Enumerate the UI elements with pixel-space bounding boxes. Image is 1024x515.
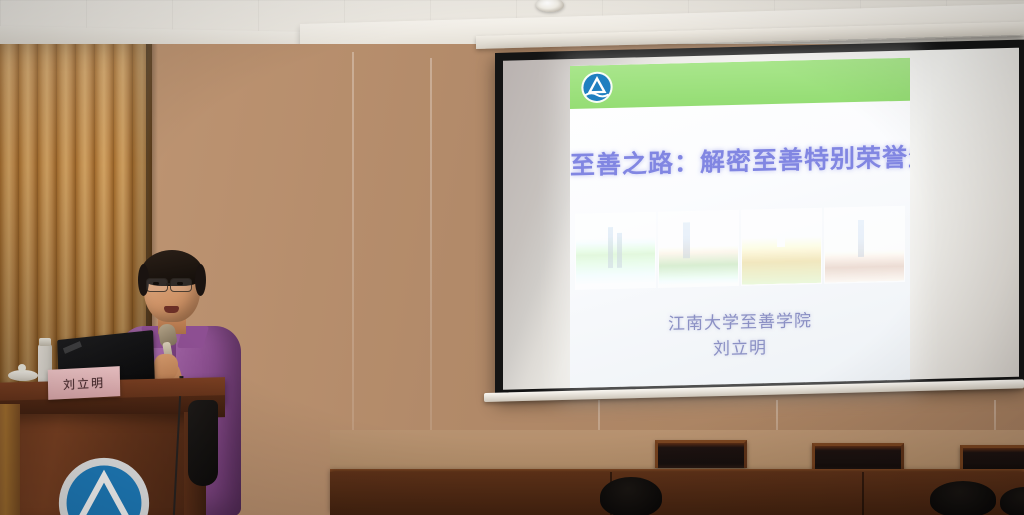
slide-title: 至善之路：解密至善特别荣誉生 <box>570 138 910 182</box>
speaker-hand <box>154 354 178 380</box>
projected-slide: 至善之路：解密至善特别荣誉生 江南大学至善学院 刘立明 <box>570 58 910 388</box>
podium-left-column <box>0 404 20 515</box>
glasses-right-lens-icon <box>170 278 192 292</box>
jiangnan-university-logo-icon <box>580 70 614 105</box>
seating-rail <box>330 472 1024 515</box>
slide-header-band <box>570 58 910 109</box>
speaker-hair-right <box>195 264 206 296</box>
glasses-bridge-icon <box>166 283 171 285</box>
water-bottle-cap <box>39 338 51 346</box>
glasses-left-lens-icon <box>146 278 168 292</box>
audience-head <box>600 477 662 515</box>
wall-acoustic-panel <box>655 440 747 468</box>
nameplate-text: 刘立明 <box>63 373 105 392</box>
nameplate: 刘立明 <box>48 366 121 400</box>
jiangnan-university-emblem-icon <box>56 455 152 515</box>
laptop-screen-glint <box>63 341 82 354</box>
tea-cup-lid-knob <box>18 364 26 372</box>
lecture-hall-scene: 至善之路：解密至善特别荣誉生 江南大学至善学院 刘立明 <box>0 0 1024 515</box>
campus-photo-2 <box>658 210 739 288</box>
bag <box>188 400 218 486</box>
wall-panel-seam <box>352 52 354 472</box>
speaker-mouth <box>164 306 179 313</box>
speaker-eye-right <box>177 282 183 285</box>
campus-photo-3 <box>741 208 822 286</box>
campus-photo-4 <box>824 206 905 284</box>
seating-rail-seam <box>862 472 864 515</box>
slide-photo-strip <box>575 206 905 290</box>
campus-photo-1 <box>575 212 656 290</box>
wall-acoustic-panel <box>812 443 904 471</box>
speaker-eye-left <box>153 282 159 285</box>
wall-panel-seam <box>430 58 432 458</box>
audience-head <box>930 481 996 515</box>
